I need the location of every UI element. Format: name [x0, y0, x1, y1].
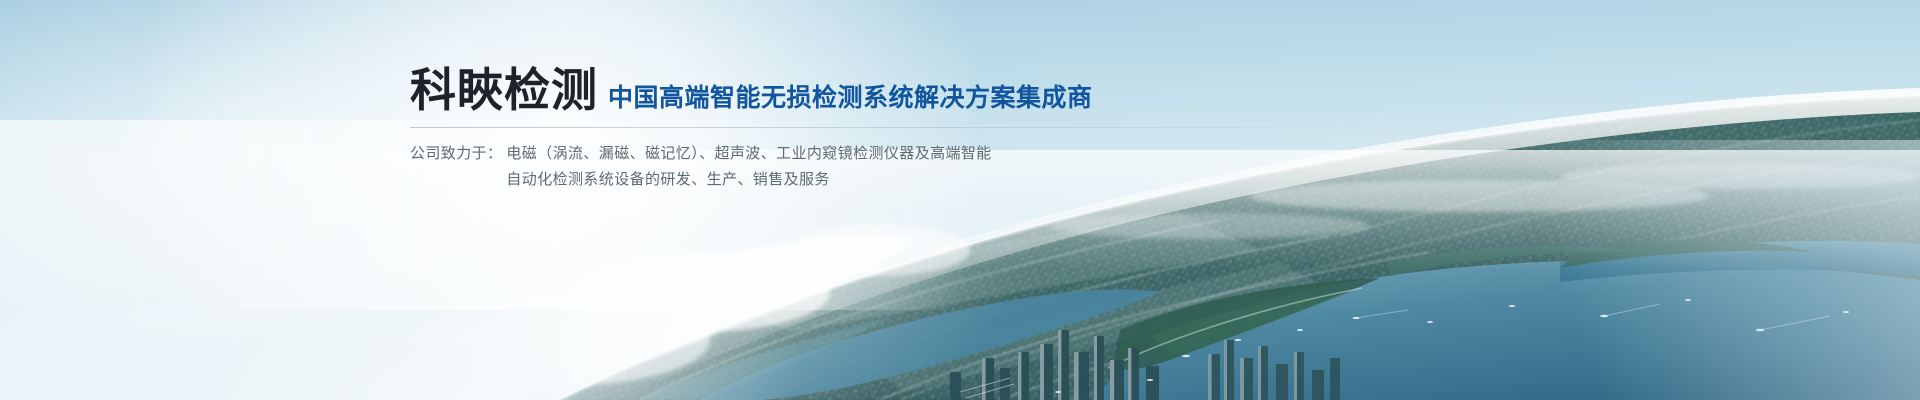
brand-slogan: 中国高端智能无损检测系统解决方案集成商: [608, 84, 1093, 114]
description-label: 公司致力于：: [410, 140, 506, 166]
company-description: 公司致力于： 电磁（涡流、漏磁、磁记忆）、超声波、工业内窥镜检测仪器及高端智能 …: [410, 140, 1410, 192]
description-lines: 电磁（涡流、漏磁、磁记忆）、超声波、工业内窥镜检测仪器及高端智能 自动化检测系统…: [506, 140, 991, 192]
divider: [410, 127, 1405, 128]
title-row: 科䀹检测 中国高端智能无损检测系统解决方案集成商: [410, 58, 1410, 114]
description-line-2: 自动化检测系统设备的研发、生产、销售及服务: [506, 170, 829, 188]
hero-banner: 科䀹检测 中国高端智能无损检测系统解决方案集成商 公司致力于： 电磁（涡流、漏磁…: [0, 0, 1920, 400]
brand-name: 科䀹检测: [410, 66, 598, 114]
description-line-1: 电磁（涡流、漏磁、磁记忆）、超声波、工业内窥镜检测仪器及高端智能: [506, 144, 991, 162]
banner-copy: 科䀹检测 中国高端智能无损检测系统解决方案集成商 公司致力于： 电磁（涡流、漏磁…: [410, 58, 1410, 192]
